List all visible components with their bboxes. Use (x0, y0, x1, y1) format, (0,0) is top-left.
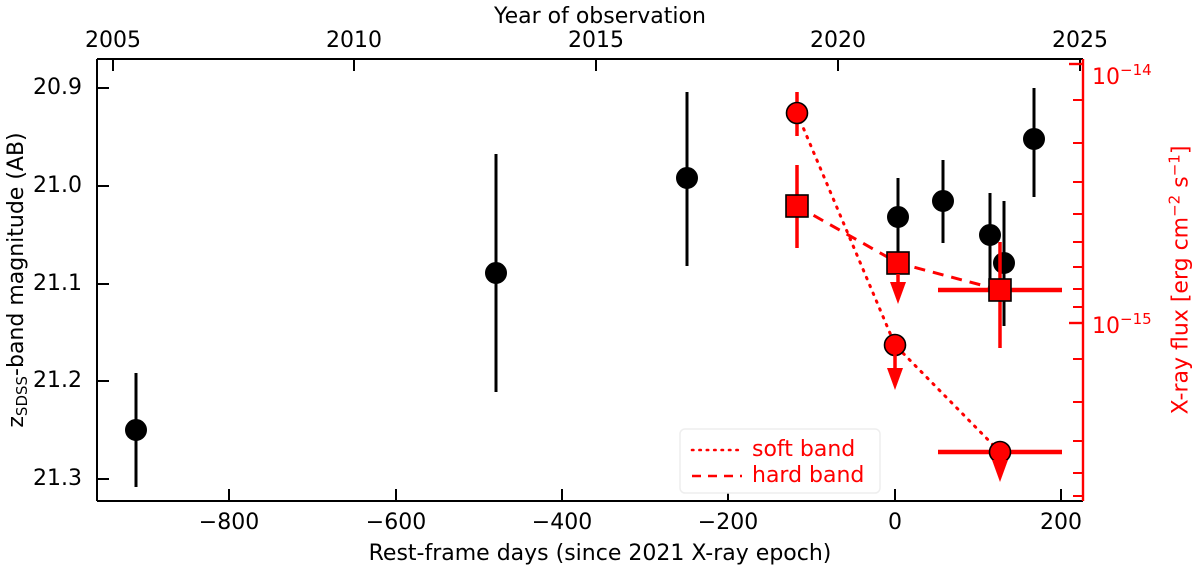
plot-area (0, 0, 1200, 577)
zband-point-1 (126, 373, 147, 487)
left-axis-ticks (97, 88, 109, 479)
legend-label-hard-band[interactable]: hard band (752, 465, 864, 487)
zband-series (126, 88, 1045, 487)
zband-point-8 (1024, 88, 1045, 197)
softband-series (787, 92, 1063, 482)
hardband-point-2-upperlimit (887, 252, 909, 304)
legend-label-soft-band[interactable]: soft band (752, 439, 855, 461)
zband-point-2 (486, 154, 507, 392)
top-axis-ticks (113, 59, 1080, 71)
right-axis-minor-ticks (1073, 100, 1083, 496)
zband-point-3 (677, 92, 698, 266)
axis-frame (97, 59, 1083, 501)
figure-canvas: Year of observation 2005 2010 2015 2020 … (0, 0, 1200, 577)
softband-point-2-upperlimit (885, 335, 906, 391)
zband-point-6 (980, 193, 1001, 292)
hardband-point-1 (786, 165, 808, 248)
zband-point-5 (933, 160, 954, 243)
hardband-point-3 (938, 242, 1062, 348)
bottom-axis-ticks (229, 489, 1061, 501)
hardband-series (786, 165, 1062, 348)
right-axis-major-ticks (1069, 64, 1083, 323)
zband-point-7 (994, 201, 1015, 326)
softband-point-3-upperlimit (938, 442, 1062, 483)
